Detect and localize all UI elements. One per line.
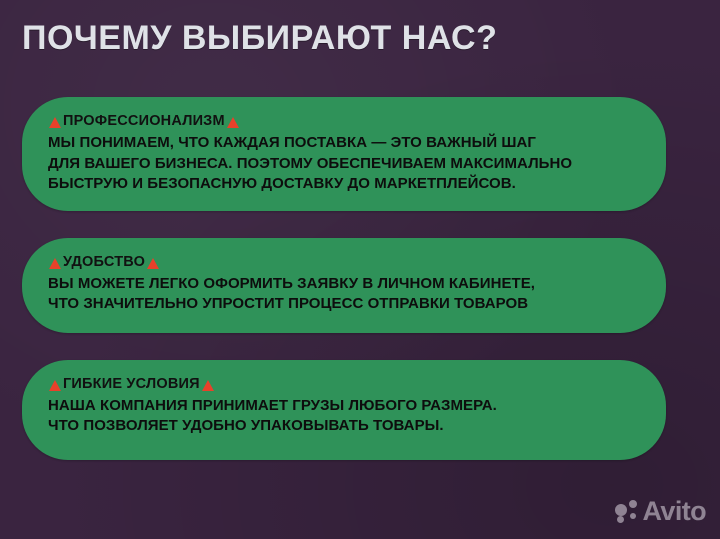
red-triangle-icon [147,258,159,269]
benefit-card-heading-label: ПРОФЕССИОНАЛИЗМ [62,112,226,131]
benefit-card-professionalism: ПРОФЕССИОНАЛИЗМ МЫ ПОНИМАЕМ, ЧТО КАЖДАЯ … [22,97,666,211]
avito-wordmark: Avito [643,498,707,525]
benefit-card-body-line: НАША КОМПАНИЯ ПРИНИМАЕТ ГРУЗЫ ЛЮБОГО РАЗ… [48,396,640,417]
red-triangle-icon [49,258,61,269]
page-title: ПОЧЕМУ ВЫБИРАЮТ НАС? [22,17,497,59]
benefit-card-body-line: ДЛЯ ВАШЕГО БИЗНЕСА. ПОЭТОМУ ОБЕСПЕЧИВАЕМ… [48,154,640,175]
red-triangle-icon [49,117,61,128]
benefit-card-convenience: УДОБСТВО ВЫ МОЖЕТЕ ЛЕГКО ОФОРМИТЬ ЗАЯВКУ… [22,238,666,333]
avito-dots-icon [615,500,640,524]
benefit-card-flexible-terms: ГИБКИЕ УСЛОВИЯ НАША КОМПАНИЯ ПРИНИМАЕТ Г… [22,360,666,460]
benefit-card-body: ВЫ МОЖЕТЕ ЛЕГКО ОФОРМИТЬ ЗАЯВКУ В ЛИЧНОМ… [48,274,640,315]
benefit-card-heading-label: ГИБКИЕ УСЛОВИЯ [62,375,201,394]
benefit-card-heading: ГИБКИЕ УСЛОВИЯ [48,375,640,394]
red-triangle-icon [202,380,214,391]
benefit-card-heading-label: УДОБСТВО [62,253,146,272]
benefit-card-heading: УДОБСТВО [48,253,640,272]
benefit-card-heading: ПРОФЕССИОНАЛИЗМ [48,112,640,131]
benefit-card-body: НАША КОМПАНИЯ ПРИНИМАЕТ ГРУЗЫ ЛЮБОГО РАЗ… [48,396,640,437]
avito-watermark: Avito [615,498,707,525]
benefit-card-body-line: БЫСТРУЮ И БЕЗОПАСНУЮ ДОСТАВКУ ДО МАРКЕТП… [48,174,640,195]
benefit-card-body-line: ЧТО ЗНАЧИТЕЛЬНО УПРОСТИТ ПРОЦЕСС ОТПРАВК… [48,294,640,315]
red-triangle-icon [227,117,239,128]
benefits-card-list: ПРОФЕССИОНАЛИЗМ МЫ ПОНИМАЕМ, ЧТО КАЖДАЯ … [22,97,666,460]
benefit-card-body-line: МЫ ПОНИМАЕМ, ЧТО КАЖДАЯ ПОСТАВКА — ЭТО В… [48,133,640,154]
benefit-card-body-line: ВЫ МОЖЕТЕ ЛЕГКО ОФОРМИТЬ ЗАЯВКУ В ЛИЧНОМ… [48,274,640,295]
benefit-card-body: МЫ ПОНИМАЕМ, ЧТО КАЖДАЯ ПОСТАВКА — ЭТО В… [48,133,640,195]
red-triangle-icon [49,380,61,391]
benefit-card-body-line: ЧТО ПОЗВОЛЯЕТ УДОБНО УПАКОВЫВАТЬ ТОВАРЫ. [48,416,640,437]
